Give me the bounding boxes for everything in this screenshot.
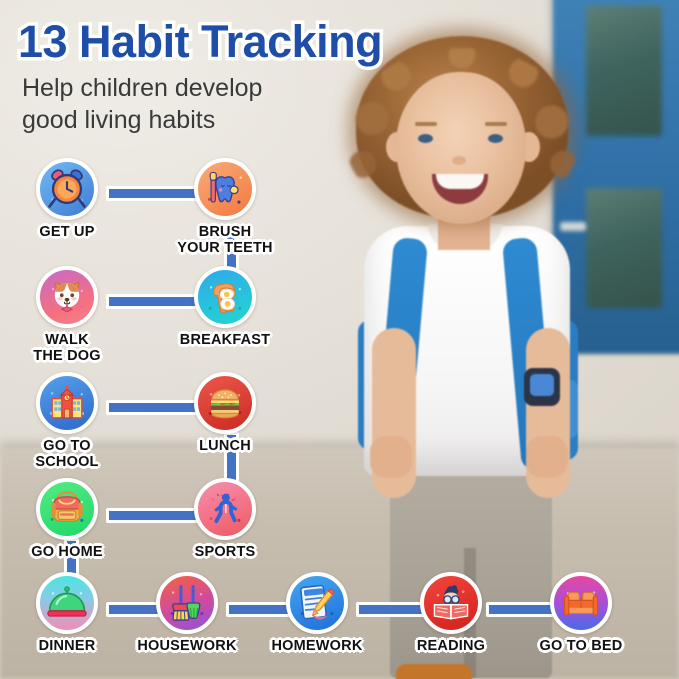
connector-getup-brushteeth xyxy=(106,186,208,201)
habit-node-sports[interactable]: SPORTS xyxy=(194,478,256,540)
habit-label: READING xyxy=(417,638,485,654)
connector-school-lunch xyxy=(106,400,208,415)
hamburger-icon xyxy=(198,376,252,430)
habit-label: GO TO BED xyxy=(540,638,623,654)
habit-bubble xyxy=(194,372,256,434)
habit-node-walk-the-dog[interactable]: WALK THE DOG xyxy=(36,266,98,328)
habit-label: BREAKFAST xyxy=(180,332,270,348)
habit-bubble xyxy=(194,158,256,220)
habit-node-brush-teeth[interactable]: BRUSH YOUR TEETH xyxy=(194,158,256,220)
habit-label: WALK THE DOG xyxy=(33,332,100,364)
tooth-brush-icon xyxy=(198,162,252,216)
backpack-icon xyxy=(40,482,94,536)
broom-icon xyxy=(160,576,214,630)
habit-label: HOUSEWORK xyxy=(137,638,236,654)
habit-node-homework[interactable]: HOMEWORK xyxy=(286,572,348,634)
connector-gohome-sports xyxy=(106,508,208,523)
habit-label: LUNCH xyxy=(199,438,251,454)
notebook-pen-icon xyxy=(290,576,344,630)
reading-child-icon xyxy=(424,576,478,630)
habit-flow-graph: GET UP BRUSH YOUR TEETH xyxy=(0,0,679,679)
habit-label: DINNER xyxy=(39,638,96,654)
toast-egg-icon xyxy=(198,270,252,324)
bed-icon xyxy=(554,576,608,630)
habit-node-breakfast[interactable]: BREAKFAST xyxy=(194,266,256,328)
connector-homework-reading xyxy=(356,602,428,617)
habit-bubble xyxy=(194,478,256,540)
habit-bubble xyxy=(420,572,482,634)
food-cloche-icon xyxy=(40,576,94,630)
habit-bubble xyxy=(156,572,218,634)
connector-walkdog-breakfast xyxy=(106,294,208,309)
habit-label: BRUSH YOUR TEETH xyxy=(177,224,272,256)
habit-node-housework[interactable]: HOUSEWORK xyxy=(156,572,218,634)
school-icon xyxy=(40,376,94,430)
habit-label: HOMEWORK xyxy=(271,638,362,654)
habit-node-get-up[interactable]: GET UP xyxy=(36,158,98,220)
habit-node-go-to-school[interactable]: GO TO SCHOOL xyxy=(36,372,98,434)
habit-bubble xyxy=(194,266,256,328)
habit-node-go-home[interactable]: GO HOME xyxy=(36,478,98,540)
alarm-clock-icon xyxy=(40,162,94,216)
habit-label: GO TO SCHOOL xyxy=(35,438,98,470)
habit-node-lunch[interactable]: LUNCH xyxy=(194,372,256,434)
poster: 13 Habit Tracking Help children develop … xyxy=(0,0,679,679)
habit-bubble xyxy=(36,478,98,540)
habit-bubble xyxy=(36,158,98,220)
habit-label: GO HOME xyxy=(31,544,103,560)
habit-node-dinner[interactable]: DINNER xyxy=(36,572,98,634)
habit-bubble xyxy=(550,572,612,634)
habit-node-go-to-bed[interactable]: GO TO BED xyxy=(550,572,612,634)
habit-node-reading[interactable]: READING xyxy=(420,572,482,634)
habit-label: GET UP xyxy=(39,224,94,240)
connector-housework-homework xyxy=(226,602,294,617)
habit-label: SPORTS xyxy=(195,544,256,560)
habit-bubble xyxy=(36,266,98,328)
habit-bubble xyxy=(286,572,348,634)
habit-bubble xyxy=(36,372,98,434)
habit-bubble xyxy=(36,572,98,634)
connector-reading-gotobed xyxy=(486,602,558,617)
running-icon xyxy=(198,482,252,536)
dog-icon xyxy=(40,270,94,324)
